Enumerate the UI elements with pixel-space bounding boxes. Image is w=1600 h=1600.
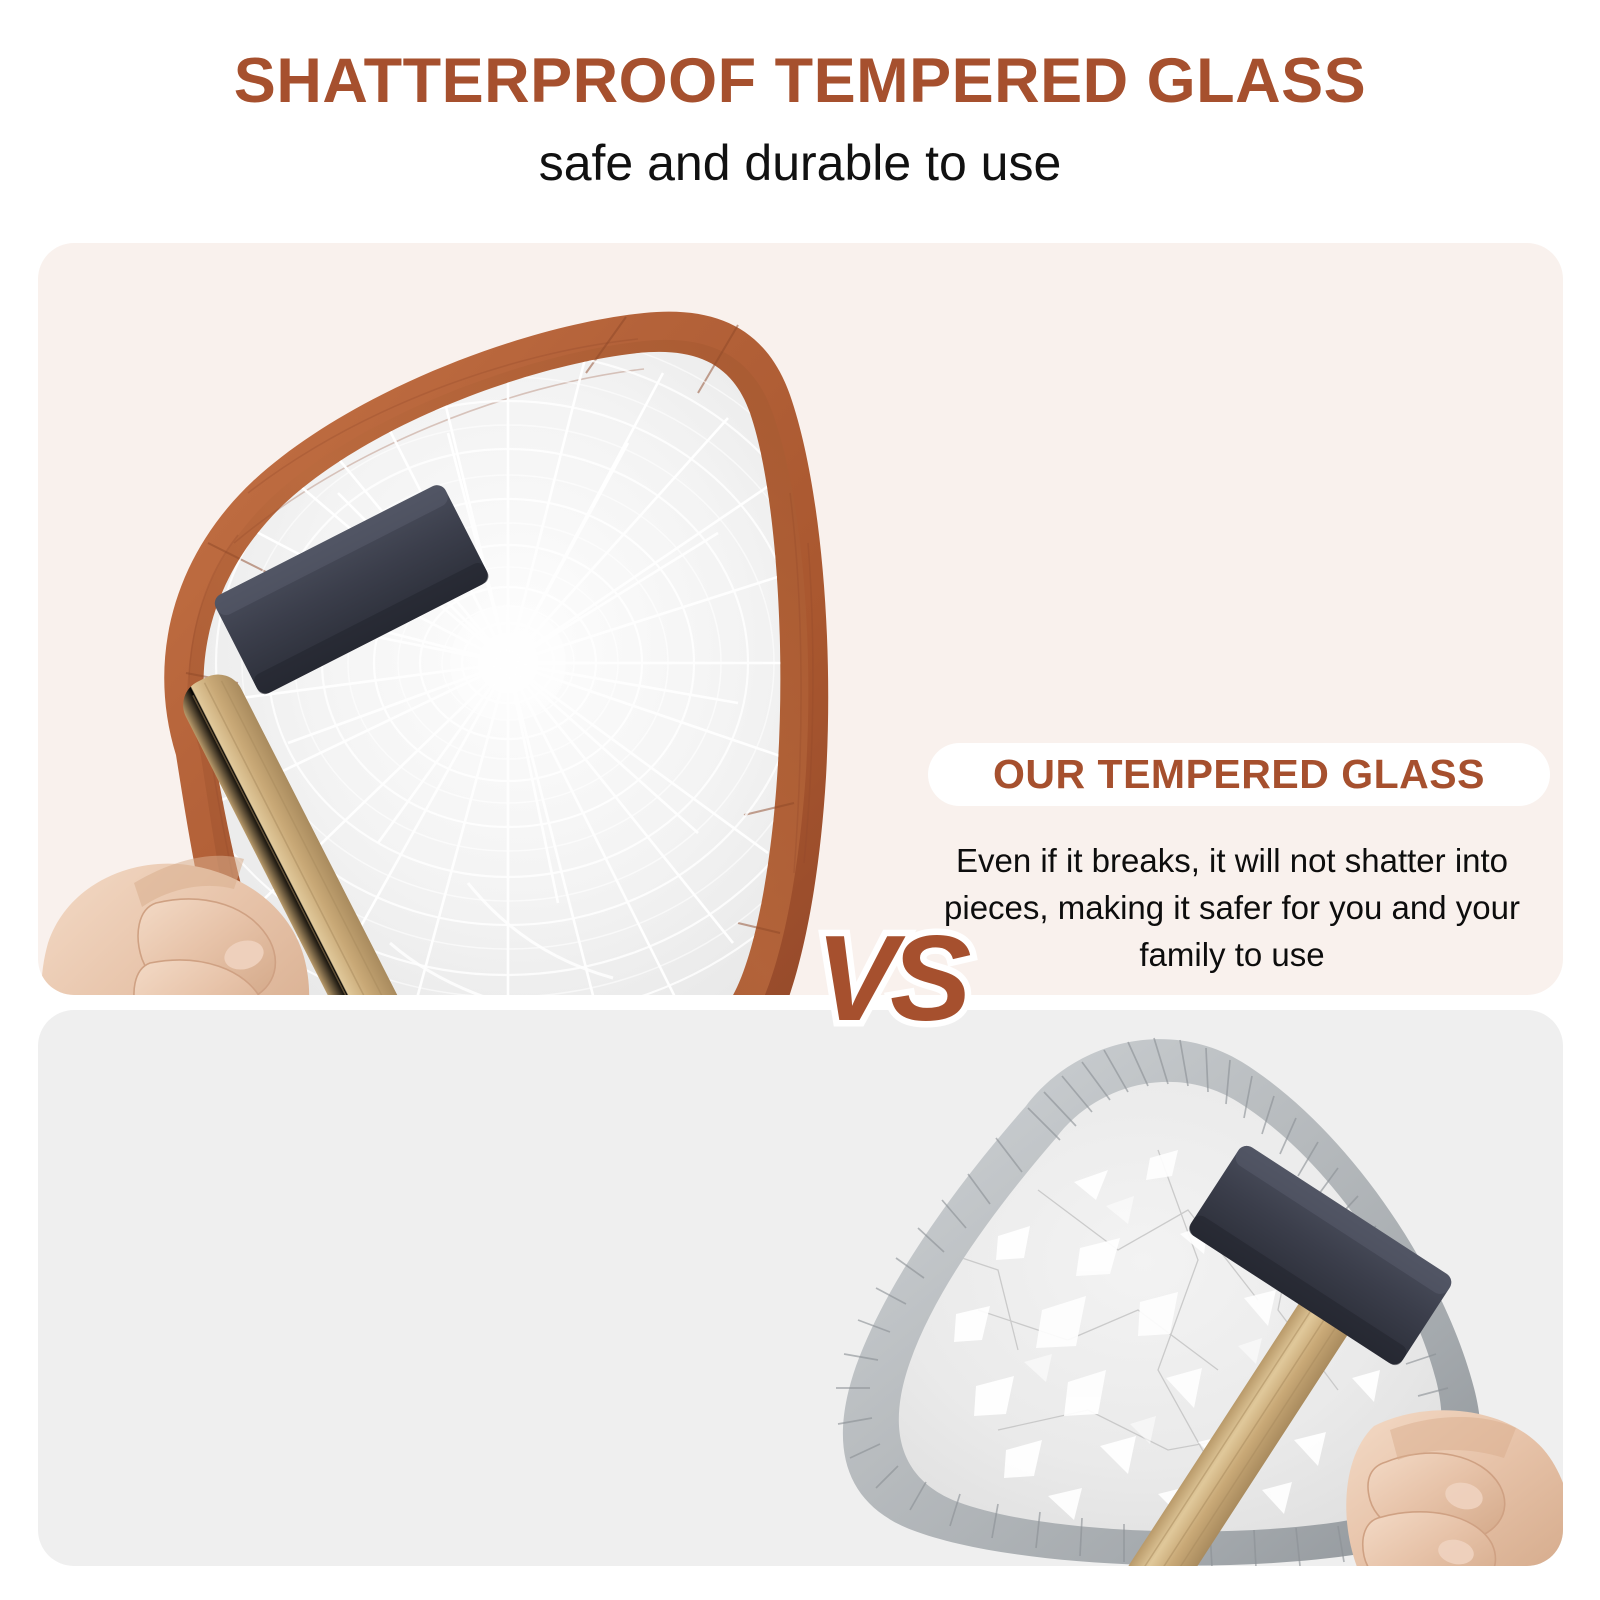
- page-subtitle: safe and durable to use: [0, 134, 1600, 192]
- fingers: [1363, 1453, 1505, 1566]
- tempered-badge-label: OUR TEMPERED GLASS: [993, 751, 1485, 798]
- tempered-description: Even if it breaks, it will not shatter i…: [912, 838, 1552, 979]
- header: SHATTERPROOF TEMPERED GLASS safe and dur…: [0, 0, 1600, 225]
- tempered-text-block: OUR TEMPERED GLASS Even if it breaks, it…: [890, 488, 1562, 988]
- hand-grip-ordinary: [1346, 1410, 1563, 1566]
- vs-label: VS: [816, 917, 965, 1039]
- tempered-badge: OUR TEMPERED GLASS: [928, 743, 1550, 806]
- tempered-glass-panel: OUR TEMPERED GLASS Even if it breaks, it…: [38, 243, 1563, 995]
- ordinary-glass-panel: OTHER ORDINARY GLASS Other's glass mirro…: [38, 1010, 1563, 1566]
- vs-badge: VS: [795, 908, 985, 1048]
- page-title: SHATTERPROOF TEMPERED GLASS: [0, 45, 1600, 117]
- ordinary-mirror-illustration: [38, 1010, 1563, 1566]
